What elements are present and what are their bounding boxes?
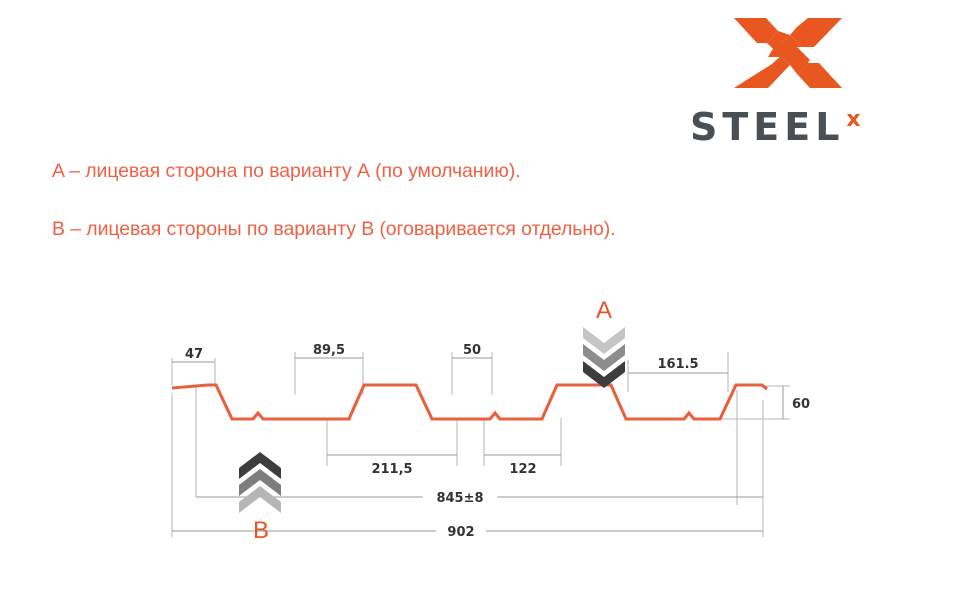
dim-label-60: 60 <box>792 397 810 412</box>
dim-label-902: 902 <box>447 525 474 540</box>
marker-a-letter: A <box>596 297 612 324</box>
sheet-profile-outline <box>172 385 767 419</box>
dim-label-50: 50 <box>463 343 481 358</box>
dim-label-161-5: 161.5 <box>657 357 698 372</box>
dim-label-122: 122 <box>509 462 536 477</box>
dim-label-845: 845±8 <box>436 491 483 506</box>
marker-b: B <box>239 452 281 544</box>
extension-lines <box>172 352 790 537</box>
profile-technical-drawing: A B 47 89,5 50 161.5 211,5 122 845±8 902… <box>0 0 970 597</box>
chevron-up-icon <box>239 452 281 513</box>
marker-a: A <box>583 297 625 388</box>
dim-label-211-5: 211,5 <box>371 462 412 477</box>
dim-label-47: 47 <box>185 347 203 362</box>
marker-b-letter: B <box>253 517 269 544</box>
dim-label-89-5: 89,5 <box>313 343 345 358</box>
chevron-down-icon <box>583 327 625 388</box>
